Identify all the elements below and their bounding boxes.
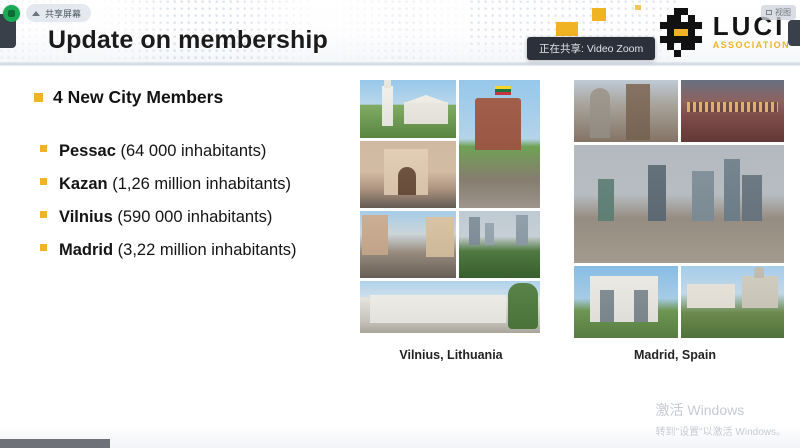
list-item: Kazan (1,26 million inhabitants): [40, 175, 370, 208]
caption-madrid: Madrid, Spain: [600, 348, 750, 362]
view-options-button[interactable]: 视图: [761, 5, 796, 20]
share-tooltip: 正在共享: Video Zoom: [527, 37, 655, 60]
share-status-pill[interactable]: 共享屏幕: [26, 4, 91, 22]
slide-heading-text: 4 New City Members: [53, 87, 223, 108]
city-entry-text: Madrid (3,22 million inhabitants): [59, 241, 297, 260]
photo-vilnius-old-town-street: [360, 211, 456, 278]
photo-royal-palace-almudena: [681, 266, 785, 338]
photo-puerta-de-alcala: [574, 266, 678, 338]
city-entry-text: Kazan (1,26 million inhabitants): [59, 175, 291, 194]
header-gold-square-2: [592, 8, 606, 21]
header-dot-pattern-b: [328, 0, 478, 66]
recording-indicator-icon[interactable]: [3, 5, 20, 22]
city-entry-text: Vilnius (590 000 inhabitants): [59, 208, 272, 227]
photo-plaza-mayor: [681, 80, 785, 142]
lithuania-flag-icon: [495, 86, 511, 95]
bottom-toolbar-strip[interactable]: [0, 439, 110, 448]
share-pill-label: 共享屏幕: [45, 7, 81, 20]
photo-vilnius-skyline: [459, 211, 540, 278]
city-entry-text: Pessac (64 000 inhabitants): [59, 142, 266, 161]
list-item: Pessac (64 000 inhabitants): [40, 142, 370, 175]
city-member-list: Pessac (64 000 inhabitants) Kazan (1,26 …: [40, 142, 370, 274]
luci-subtitle: ASSOCIATION: [713, 41, 790, 50]
bullet-dot-icon: [40, 178, 47, 185]
vilnius-photo-collage: [360, 80, 540, 335]
list-item: Madrid (3,22 million inhabitants): [40, 241, 370, 274]
city-name: Vilnius: [59, 208, 113, 226]
photo-gate-of-dawn: [360, 141, 456, 208]
slide-title: Update on membership: [48, 26, 328, 55]
caption-vilnius: Vilnius, Lithuania: [376, 348, 526, 362]
slide-heading-row: 4 New City Members: [34, 87, 223, 108]
photo-vilnius-cathedral: [360, 80, 456, 138]
photo-madrid-skyline: [574, 145, 784, 263]
screen-capture: Update on membership: [0, 0, 800, 448]
right-panel-tab[interactable]: [788, 20, 800, 46]
recording-stop-glyph: [8, 10, 15, 17]
luci-mark-icon: [660, 8, 706, 54]
header-gold-square-3: [635, 5, 641, 10]
photo-presidential-palace: [360, 281, 540, 333]
city-name: Kazan: [59, 175, 108, 193]
photo-gran-via: [574, 80, 678, 142]
bullet-dot-icon: [40, 244, 47, 251]
bullet-dot-icon: [40, 145, 47, 152]
bullet-dot-icon: [40, 211, 47, 218]
city-name: Madrid: [59, 241, 113, 259]
city-detail: (3,22 million inhabitants): [113, 241, 296, 259]
chevron-up-icon: [32, 11, 40, 16]
header-divider-rule: [0, 62, 800, 66]
madrid-photo-collage: [574, 80, 784, 335]
presentation-slide: Update on membership: [0, 0, 800, 448]
city-detail: (64 000 inhabitants): [116, 142, 266, 160]
city-name: Pessac: [59, 142, 116, 160]
photo-gediminas-tower: [459, 80, 540, 208]
city-detail: (590 000 inhabitants): [113, 208, 273, 226]
view-grid-icon: [766, 10, 772, 15]
heading-bullet-icon: [34, 93, 43, 102]
list-item: Vilnius (590 000 inhabitants): [40, 208, 370, 241]
view-options-label: 视图: [775, 7, 791, 18]
city-detail: (1,26 million inhabitants): [108, 175, 291, 193]
share-tooltip-text: 正在共享: Video Zoom: [539, 41, 643, 56]
header-gold-square-1: [556, 22, 578, 36]
